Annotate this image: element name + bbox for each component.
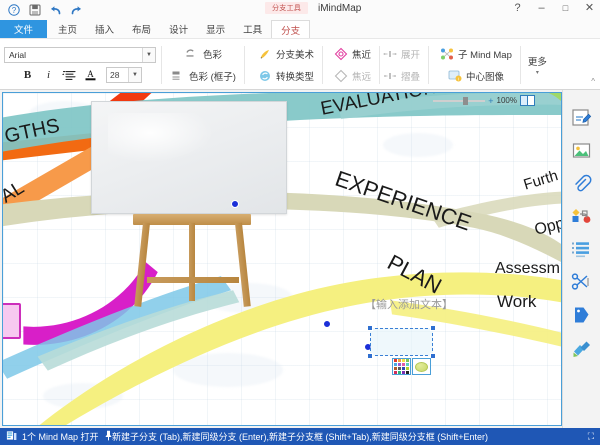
font-color-icon[interactable]: A <box>81 66 100 83</box>
align-icon[interactable] <box>60 66 79 83</box>
more-label: 更多 <box>528 54 547 68</box>
collapse-icon <box>383 69 397 83</box>
brush-icon[interactable] <box>571 337 593 359</box>
undo-icon[interactable] <box>48 3 63 18</box>
relationship-icon[interactable] <box>571 205 593 227</box>
chevron-down-icon[interactable]: ▼ <box>142 48 155 62</box>
contextual-tab-group-label: 分支工具 <box>265 2 308 14</box>
status-left: 1个 Mind Map 打开 <box>6 430 113 443</box>
branch-art-button[interactable]: 分支美术 <box>258 46 317 62</box>
convert-type-button[interactable]: 转换类型 <box>258 68 317 84</box>
expand-button[interactable]: 展开 <box>383 46 423 62</box>
note-icon[interactable] <box>571 106 593 128</box>
color-palette-icon[interactable] <box>392 358 411 375</box>
pin-icon[interactable] <box>104 430 113 443</box>
branch-color-button[interactable]: 色彩 <box>185 46 225 62</box>
font-size-value: 28 <box>110 70 119 80</box>
expand-icon <box>383 47 397 61</box>
sub-mindmap-button[interactable]: 子 Mind Map <box>440 46 515 62</box>
collapse-label: 摺叠 <box>401 69 420 83</box>
minimize-button[interactable]: – <box>535 1 548 16</box>
font-name-value: Arial <box>9 50 26 60</box>
ribbon-group-focus: 焦近 焦远 <box>322 41 379 89</box>
maximize-button[interactable]: □ <box>559 1 572 16</box>
focus-out-button[interactable]: 焦远 <box>334 68 374 84</box>
imindmap-window: ? 分支工具 iMindMap ? – □ ✕ 通知 10 文件 主 <box>0 0 600 445</box>
font-size-combo[interactable]: 28 ▼ <box>106 67 142 83</box>
central-image-button[interactable]: i 中心图像 <box>448 68 507 84</box>
ribbon-group-art: 分支美术 转换类型 <box>244 41 322 89</box>
focus-in-button[interactable]: 焦近 <box>334 46 374 62</box>
chevron-down-icon[interactable]: ▼ <box>128 68 141 82</box>
ribbon-group-more[interactable]: 更多 ▾ <box>520 41 555 89</box>
easel-leg-right <box>235 223 251 307</box>
easel-leg-left <box>134 223 150 307</box>
image-handle-dot[interactable] <box>231 200 239 208</box>
zoom-in-button[interactable]: + <box>488 96 493 106</box>
redo-icon[interactable] <box>69 3 84 18</box>
shape-fill-icon[interactable] <box>412 358 431 375</box>
view-split-icon[interactable] <box>520 95 535 106</box>
tab-view[interactable]: 显示 <box>197 20 234 38</box>
documents-icon <box>6 430 17 443</box>
resize-handle-tl[interactable] <box>367 325 373 331</box>
convert-type-label: 转换类型 <box>276 69 314 83</box>
focus-out-icon <box>334 69 348 83</box>
italic-button[interactable]: i <box>39 66 58 83</box>
window-controls: ? – □ ✕ <box>511 1 596 16</box>
ribbon-group-font: Arial ▼ B i A 28 ▼ <box>0 41 161 89</box>
easel-board <box>91 101 287 214</box>
branch-text-placeholder[interactable]: 【输入添加文本】 <box>365 296 453 312</box>
help-button[interactable]: ? <box>511 1 524 16</box>
mindmap-canvas[interactable]: GTHS AL EVALUATION EXPERIENCE PLAN Furth… <box>3 93 561 425</box>
zoom-slider-thumb[interactable] <box>463 97 468 105</box>
tab-branch[interactable]: 分支 <box>271 20 310 38</box>
title-bar: ? 分支工具 iMindMap ? – □ ✕ 通知 10 <box>0 0 600 20</box>
branch-handle-dot[interactable] <box>323 320 331 328</box>
easel-leg-center <box>189 223 195 301</box>
resize-handle-tr[interactable] <box>430 325 436 331</box>
sub-mindmap-icon <box>440 47 454 61</box>
ribbon-group-map: 子 Mind Map i 中心图像 <box>428 41 520 89</box>
work-area: GTHS AL EVALUATION EXPERIENCE PLAN Furth… <box>0 90 600 428</box>
easel-crossbar <box>147 277 239 283</box>
svg-text:?: ? <box>11 6 16 15</box>
box-color-label: 色彩 (框子) <box>189 69 236 83</box>
tab-home[interactable]: 主页 <box>49 20 86 38</box>
box-color-icon <box>171 69 185 83</box>
hint-new-sibling-box: 新建同级分支框 (Shift+Enter) <box>372 430 488 443</box>
resize-handle-bl[interactable] <box>367 353 373 359</box>
font-name-combo[interactable]: Arial ▼ <box>4 47 156 63</box>
collapse-ribbon-button[interactable]: ^ <box>591 77 595 86</box>
focus-in-icon <box>334 47 348 61</box>
zoom-slider[interactable] <box>433 100 485 102</box>
branch-color-label: 色彩 <box>203 47 222 61</box>
help-icon[interactable]: ? <box>6 3 21 18</box>
branch-mini-toolbar[interactable] <box>392 358 431 375</box>
close-button[interactable]: ✕ <box>583 1 596 16</box>
chevron-down-icon[interactable]: ▾ <box>536 69 539 76</box>
branch-art-icon <box>258 47 272 61</box>
mindmap-label[interactable]: Work <box>497 292 536 312</box>
right-toolbar <box>562 90 600 428</box>
zoom-level-label: 100% <box>497 96 517 105</box>
shape-blob <box>415 362 428 372</box>
bold-button[interactable]: B <box>18 66 37 83</box>
ribbon-group-color: 色彩 色彩 (框子) <box>161 41 244 89</box>
ribbon: Arial ▼ B i A 28 ▼ <box>0 38 600 90</box>
svg-text:i: i <box>458 77 459 82</box>
central-image-icon: i <box>448 69 462 83</box>
expand-label: 展开 <box>401 47 420 61</box>
tab-file[interactable]: 文件 <box>0 20 47 38</box>
tab-insert[interactable]: 插入 <box>86 20 123 38</box>
ribbon-group-expand: 展开 摺叠 <box>379 41 428 89</box>
tag-icon[interactable] <box>571 304 593 326</box>
status-bar: 1个 Mind Map 打开 新建子分支 (Tab), 新建同级分支 (Ente… <box>0 428 600 445</box>
scissors-icon[interactable] <box>571 271 593 293</box>
mindmap-canvas-container[interactable]: GTHS AL EVALUATION EXPERIENCE PLAN Furth… <box>2 92 562 426</box>
easel-image[interactable] <box>85 101 297 311</box>
focus-in-label: 焦近 <box>352 47 371 61</box>
open-maps-text: 1个 Mind Map 打开 <box>22 430 99 443</box>
hint-new-child-box: 新建子分支框 (Shift+Tab), <box>269 430 372 443</box>
image-icon[interactable] <box>571 139 593 161</box>
hint-new-sibling: 新建同级分支 (Enter), <box>182 430 269 443</box>
hint-new-child: 新建子分支 (Tab), <box>112 430 183 443</box>
tab-layout[interactable]: 布局 <box>123 20 160 38</box>
palette-swatches <box>394 359 409 374</box>
central-image-label: 中心图像 <box>466 69 504 83</box>
selected-branch-box[interactable] <box>370 328 433 356</box>
fullscreen-button[interactable]: ⛶ <box>588 431 594 442</box>
save-icon[interactable] <box>27 3 42 18</box>
box-color-button[interactable]: 色彩 (框子) <box>171 68 239 84</box>
ribbon-tab-bar: 文件 主页 插入 布局 设计 显示 工具 分支 <box>0 20 600 38</box>
zoom-control[interactable]: + 100% <box>433 95 535 106</box>
collapse-button[interactable]: 摺叠 <box>383 68 423 84</box>
convert-type-icon <box>258 69 272 83</box>
focus-out-label: 焦远 <box>352 69 371 83</box>
outline-icon[interactable] <box>571 238 593 260</box>
branch-art-label: 分支美术 <box>276 47 314 61</box>
font-style-row: B i A 28 ▼ <box>18 66 142 83</box>
node-box-pink[interactable] <box>3 303 21 339</box>
svg-text:A: A <box>87 69 94 79</box>
app-title: iMindMap <box>318 3 361 14</box>
tab-design[interactable]: 设计 <box>160 20 197 38</box>
mindmap-label[interactable]: Assessm <box>495 260 560 278</box>
attachment-icon[interactable] <box>571 172 593 194</box>
tab-tools[interactable]: 工具 <box>234 20 271 38</box>
quick-access-toolbar: ? <box>0 3 84 18</box>
sub-mindmap-label: 子 Mind Map <box>458 47 512 61</box>
branch-color-icon <box>185 47 199 61</box>
